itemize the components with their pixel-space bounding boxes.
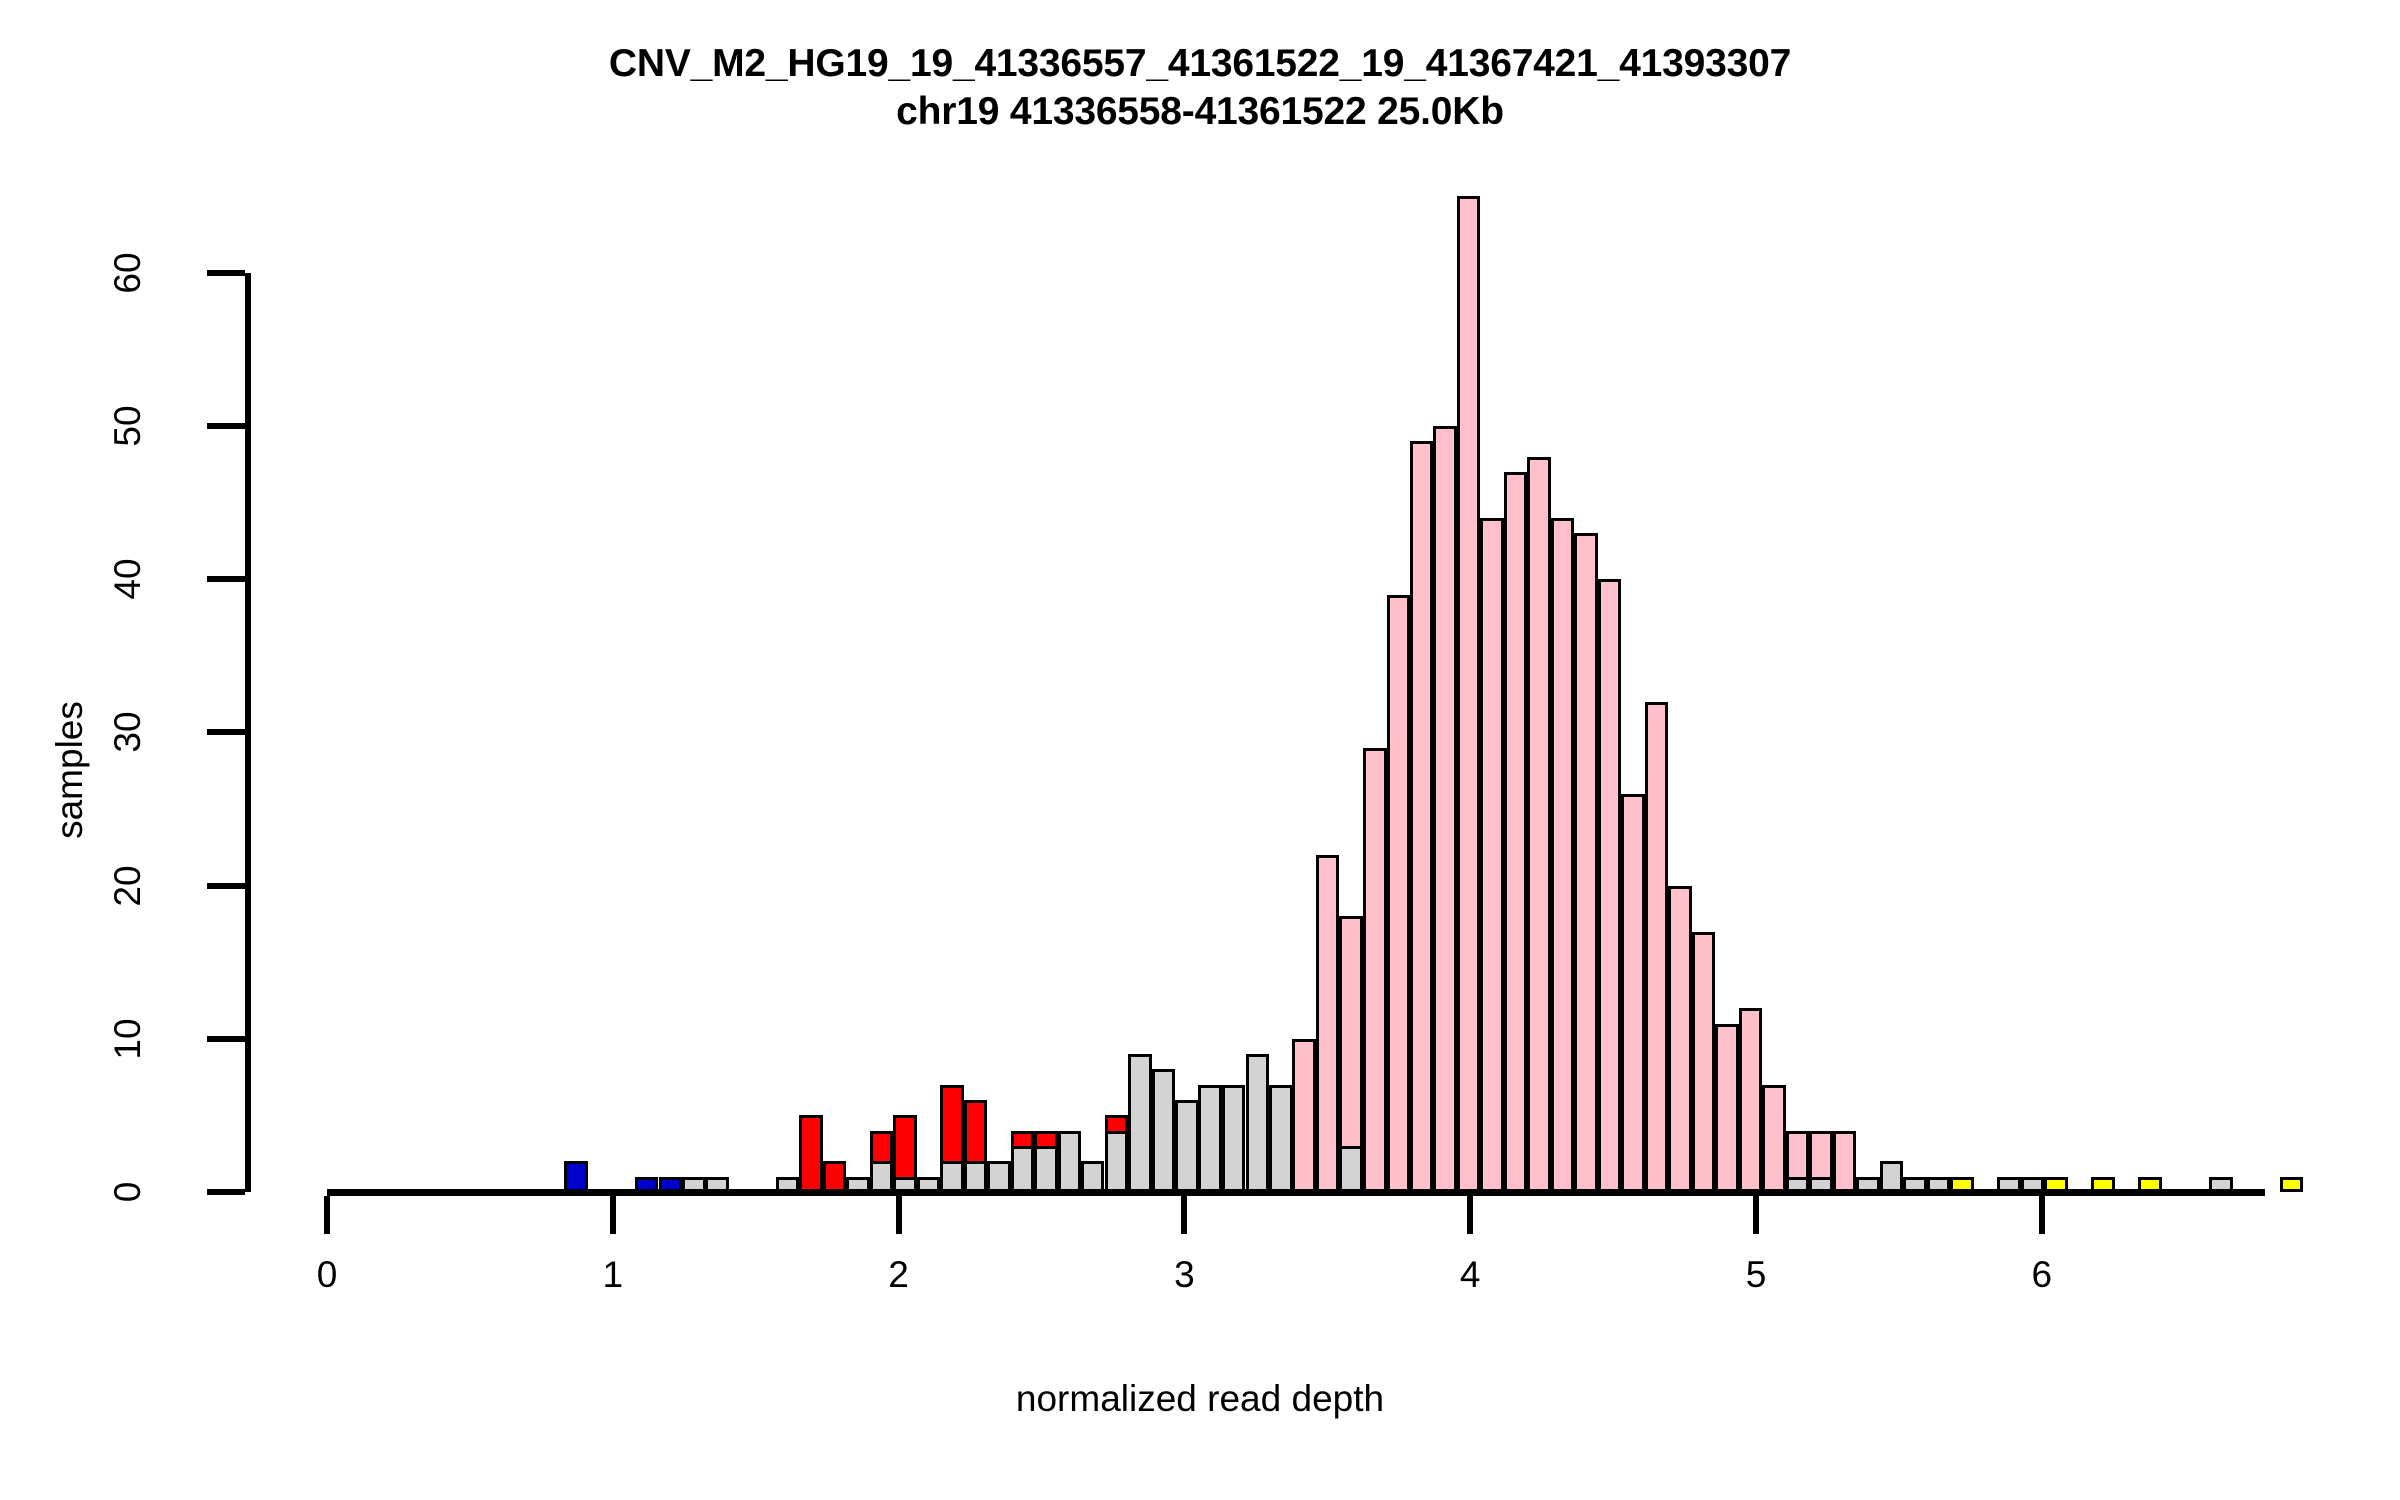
histogram-plot: CNV_M2_HG19_19_41336557_41361522_19_4136… (0, 0, 2400, 1500)
histogram-bar-segment (1551, 518, 1575, 1192)
histogram-bar-segment (1504, 472, 1528, 1192)
histogram-bar-segment (1128, 1054, 1152, 1192)
histogram-bar-segment (1292, 1039, 1316, 1192)
y-axis-tick (207, 270, 245, 276)
x-axis-tick (610, 1196, 616, 1234)
x-axis-tick (2039, 1196, 2045, 1234)
histogram-bar-segment (1387, 595, 1411, 1193)
y-axis-tick-label: 0 (106, 1132, 150, 1252)
histogram-bar-segment (1527, 457, 1551, 1192)
x-axis-tick (1181, 1196, 1187, 1234)
histogram-bar-segment (1457, 196, 1481, 1192)
x-axis-tick-label: 3 (1124, 1254, 1244, 1296)
y-axis-tick (207, 1189, 245, 1195)
histogram-bar-segment (1363, 748, 1387, 1192)
x-axis-tick (1467, 1196, 1473, 1234)
histogram-bar-segment (1598, 579, 1622, 1192)
histogram-bar-segment (1433, 426, 1457, 1192)
histogram-bar-segment (1246, 1054, 1270, 1192)
histogram-bar-segment (1645, 702, 1669, 1192)
x-axis-tick-label: 0 (267, 1254, 387, 1296)
y-axis-tick-label: 50 (106, 366, 150, 486)
histogram-bar-segment (1034, 1146, 1058, 1192)
histogram-bar-segment (1410, 441, 1434, 1192)
histogram-bar-segment (1480, 518, 1504, 1192)
histogram-bar-segment (1692, 932, 1716, 1192)
histogram-bar-segment (1833, 1131, 1857, 1192)
histogram-bar-segment (799, 1115, 823, 1192)
histogram-bar-segment (987, 1161, 1011, 1192)
histogram-bar-segment (1715, 1024, 1739, 1193)
histogram-bar-segment (870, 1161, 894, 1192)
y-axis-tick (207, 423, 245, 429)
x-axis-tick-label: 2 (839, 1254, 959, 1296)
x-axis-tick (896, 1196, 902, 1234)
histogram-bar-segment (1316, 855, 1340, 1192)
y-axis-tick-label: 30 (106, 672, 150, 792)
histogram-bar-segment (1668, 886, 1692, 1192)
histogram-bar-segment (1081, 1161, 1105, 1192)
x-axis-tick-label: 1 (553, 1254, 673, 1296)
histogram-bar-segment (1198, 1085, 1222, 1192)
histogram-bar-segment (2280, 1177, 2304, 1192)
y-axis-line (245, 273, 251, 1192)
histogram-bar-segment (1621, 794, 1645, 1192)
histogram-bar-segment (964, 1161, 988, 1192)
histogram-bar-segment (1175, 1100, 1199, 1192)
y-axis-tick-label: 20 (106, 826, 150, 946)
y-axis-tick-label: 10 (106, 979, 150, 1099)
x-axis-tick (1753, 1196, 1759, 1234)
histogram-bar-segment (940, 1161, 964, 1192)
histogram-bar-segment (564, 1161, 588, 1192)
y-axis-tick (207, 576, 245, 582)
x-axis-tick (324, 1196, 330, 1234)
x-axis-line (327, 1189, 2265, 1196)
y-axis-tick-label: 60 (106, 213, 150, 333)
histogram-bar-segment (823, 1161, 847, 1192)
histogram-bar-segment (1269, 1085, 1293, 1192)
x-axis-tick-label: 4 (1410, 1254, 1530, 1296)
histogram-bar-segment (1762, 1085, 1786, 1192)
y-axis-tick (207, 1036, 245, 1042)
y-axis-tick (207, 729, 245, 735)
histogram-bar-segment (1339, 1146, 1363, 1192)
x-axis-tick-label: 6 (1982, 1254, 2102, 1296)
y-axis-tick-label: 40 (106, 519, 150, 639)
histogram-bar-segment (1880, 1161, 1904, 1192)
x-axis-tick-label: 5 (1696, 1254, 1816, 1296)
histogram-bar-segment (1574, 533, 1598, 1192)
histogram-bar-segment (1152, 1069, 1176, 1192)
y-axis-tick (207, 883, 245, 889)
histogram-bar-segment (1058, 1131, 1082, 1192)
histogram-bar-segment (1105, 1131, 1129, 1192)
histogram-bar-segment (1739, 1008, 1763, 1192)
histogram-bar-segment (1011, 1146, 1035, 1192)
histogram-bar-segment (1222, 1085, 1246, 1192)
